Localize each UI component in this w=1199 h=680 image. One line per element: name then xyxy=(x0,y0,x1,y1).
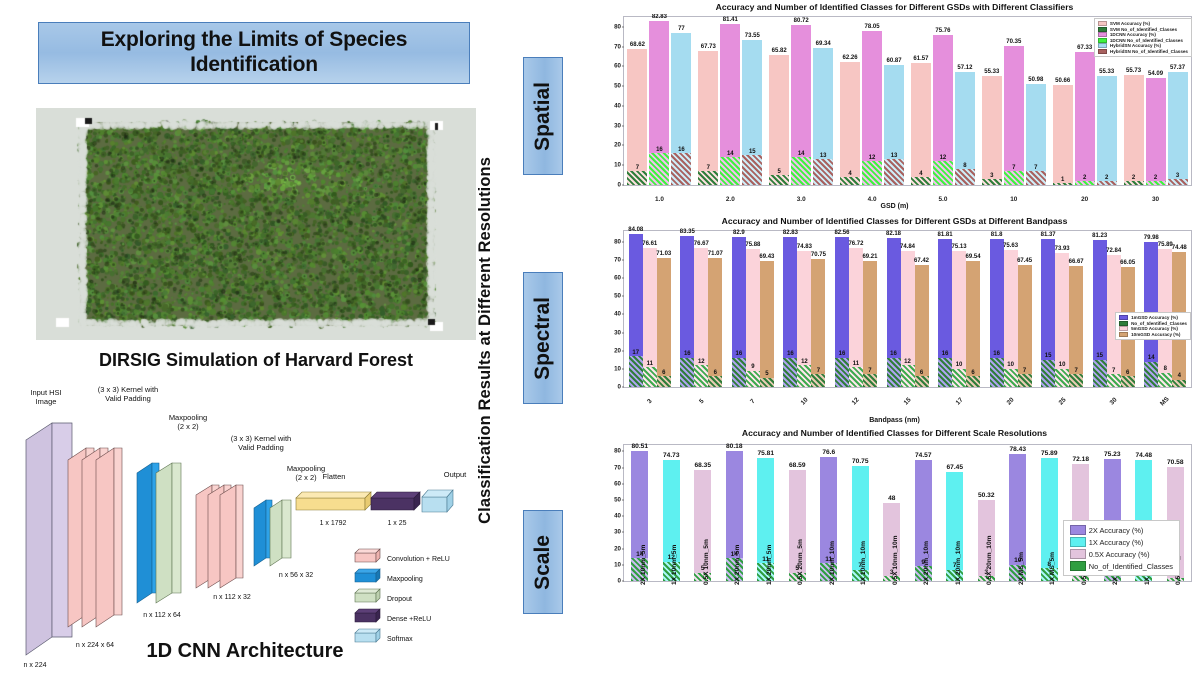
cnn-legend-label-dense: Dense +ReLU xyxy=(387,616,431,623)
cnn-dim-flatten: 1 x 1792 xyxy=(320,520,347,527)
class-count-overlay: 4 xyxy=(840,177,860,185)
class-count-label: 16 xyxy=(787,351,794,357)
legend-label: 5mGSD Accuracy (%) xyxy=(1131,326,1178,331)
class-count-label: 7 xyxy=(1074,368,1077,374)
x-tick-label: 3.0 xyxy=(797,196,806,203)
x-tick-label: 5.0 xyxy=(938,196,947,203)
class-count-overlay: 12 xyxy=(933,161,953,185)
bar-value-label: 81.8 xyxy=(991,232,1003,238)
bar-svm-accuracy-: 55.732 xyxy=(1124,75,1144,185)
class-count-label: 16 xyxy=(942,351,949,357)
chart-title-scale: Accuracy and Number of Identified Classe… xyxy=(593,428,1196,438)
class-count-overlay: 7 xyxy=(1004,171,1024,185)
class-count-label: 7 xyxy=(1112,368,1115,374)
class-count-label: 6 xyxy=(662,370,665,376)
class-count-overlay: 16 xyxy=(938,358,952,387)
cnn-label-kernel1-line2: Valid Padding xyxy=(105,394,151,403)
bar-group: 67.4571X 20nm_10m xyxy=(939,445,971,581)
class-count-label: 6 xyxy=(971,370,974,376)
bar-value-label: 80.18 xyxy=(726,443,743,450)
bar-1dcnn-accuracy-: 80.7214 xyxy=(791,25,811,185)
class-count-overlay: 14 xyxy=(720,157,740,185)
bar-group: 65.82580.721469.34133.0 xyxy=(766,17,837,185)
bar-value-label: 73.55 xyxy=(745,33,760,39)
y-tick-label: 30 xyxy=(614,529,621,536)
class-count-label: 7 xyxy=(868,368,871,374)
bar-value-label: 75.89 xyxy=(1158,242,1173,248)
class-count-label: 14 xyxy=(1148,355,1155,361)
x-tick-label: 2X 10nm_5m xyxy=(640,545,647,585)
x-tick-label: 3 xyxy=(646,398,653,405)
class-count-overlay: 8 xyxy=(955,169,975,185)
bar-value-label: 78.43 xyxy=(1009,446,1026,453)
x-tick-label: 0.5X 10nm_5m xyxy=(703,539,710,585)
legend-label: SVM Accuracy (%) xyxy=(1110,21,1150,26)
class-count-overlay: 11 xyxy=(849,367,863,387)
x-tick-label: 1.0 xyxy=(655,196,664,203)
x-tick-label: 25 xyxy=(1057,397,1067,407)
bar-1mgsd-accuracy-: 82.8316 xyxy=(783,237,797,387)
bar-10mgsd-accuracy-: 71.036 xyxy=(657,258,671,387)
page-title: Exploring the Limits of Species Identifi… xyxy=(39,28,469,78)
legend-row: HybridSN No_of_Identified_Classes xyxy=(1098,49,1188,54)
bar-value-label: 82.18 xyxy=(886,231,901,237)
bar-svm-accuracy-: 61.574 xyxy=(911,63,931,185)
legend-swatch xyxy=(1119,326,1128,331)
bar-value-label: 70.58 xyxy=(1167,459,1184,466)
bar-5mgsd-accuracy-: 74.8312 xyxy=(797,251,811,387)
legend-row: HybridSN Accuracy (%) xyxy=(1098,43,1188,48)
bar-value-label: 75.13 xyxy=(952,244,967,250)
bar-value-label: 82.83 xyxy=(652,14,667,20)
forest-caption: DIRSIG Simulation of Harvard Forest xyxy=(36,350,476,371)
class-count-label: 7 xyxy=(636,165,639,171)
legend-swatch xyxy=(1098,21,1107,26)
class-count-overlay: 16 xyxy=(649,153,669,185)
class-count-label: 12 xyxy=(801,359,808,365)
bar-hybridsn-accuracy-: 69.3413 xyxy=(813,48,833,185)
class-count-overlay: 16 xyxy=(990,358,1004,387)
x-tick-wrapper: 3 xyxy=(624,387,676,408)
class-count-label: 10 xyxy=(1059,362,1066,368)
legend-swatch xyxy=(1098,49,1107,54)
x-tick-wrapper: 17 xyxy=(933,387,985,408)
class-count-overlay: 7 xyxy=(811,374,825,387)
class-count-label: 7 xyxy=(1023,368,1026,374)
class-count-overlay: 10 xyxy=(1004,369,1018,387)
y-tick-label: 20 xyxy=(614,545,621,552)
bar-value-label: 67.33 xyxy=(1077,45,1092,51)
class-count-overlay: 16 xyxy=(680,358,694,387)
class-count-overlay: 4 xyxy=(911,177,931,185)
legend-label: HybridSN No_of_Identified_Classes xyxy=(1110,49,1188,54)
legend-row: 1DCNN Accuracy (%) xyxy=(1098,32,1188,37)
class-count-label: 7 xyxy=(1012,165,1015,171)
legend-swatch xyxy=(1098,43,1107,48)
legend-label: 2X Accuracy (%) xyxy=(1089,526,1144,535)
bar-5mgsd-accuracy-: 75.1310 xyxy=(952,251,966,387)
legend-label: 10mGSD Accuracy (%) xyxy=(1131,332,1180,337)
bar-hybridsn-accuracy-: 60.8713 xyxy=(884,65,904,185)
bar-value-label: 76.6 xyxy=(822,449,835,456)
class-count-overlay: 12 xyxy=(862,161,882,185)
class-count-overlay: 12 xyxy=(901,365,915,387)
x-tick-label: 10 xyxy=(799,397,809,407)
cnn-dim-pool2: n x 56 x 32 xyxy=(279,572,313,579)
bar-group: 68.3550.5X 10nm_5m xyxy=(687,445,719,581)
x-tick-label: 4.0 xyxy=(868,196,877,203)
class-count-label: 16 xyxy=(684,351,691,357)
bar-1mgsd-accuracy-: 83.3516 xyxy=(680,236,694,387)
y-tick-label: 40 xyxy=(614,513,621,520)
class-count-overlay: 6 xyxy=(966,376,980,387)
cnn-label-maxpool2-line1: Maxpooling xyxy=(287,464,325,473)
chart-panel-spatial: Accuracy and Number of Identified Classe… xyxy=(593,2,1196,212)
vertical-section-title-text: Classification Results at Different Reso… xyxy=(476,157,495,524)
bar-value-label: 76.67 xyxy=(694,241,709,247)
bar-group: 68.62782.831677161.0 xyxy=(624,17,695,185)
bar-10mgsd-accuracy-: 69.435 xyxy=(760,261,774,387)
y-tick-label: 70 xyxy=(614,464,621,471)
class-count-overlay: 7 xyxy=(1018,374,1032,387)
bar-1mgsd-accuracy-: 81.816 xyxy=(990,239,1004,387)
legend-swatch xyxy=(1070,525,1086,535)
bar-value-label: 66.05 xyxy=(1120,260,1135,266)
class-count-overlay: 14 xyxy=(1144,362,1158,387)
bar-value-label: 81.41 xyxy=(723,17,738,23)
x-tick-label: 0.5X 20nm_10m xyxy=(986,536,993,586)
bar-value-label: 62.26 xyxy=(843,55,858,61)
x-tick-label: 2X MS_5m xyxy=(1018,552,1025,585)
x-tick-label: 30 xyxy=(1109,397,1119,407)
legend-row: No_of_Identified_Classes xyxy=(1119,321,1187,326)
bar-5mgsd-accuracy-: 76.6111 xyxy=(643,248,657,387)
bar-value-label: 77 xyxy=(678,26,685,32)
bar-value-label: 79.98 xyxy=(1144,235,1159,241)
class-count-overlay: 11 xyxy=(643,367,657,387)
bar-group: 78.43102X MS_5m xyxy=(1002,445,1034,581)
cnn-legend-label-conv: Convolution + ReLU xyxy=(387,556,450,563)
bar-value-label: 80.72 xyxy=(794,18,809,24)
bar-10mgsd-accuracy-: 71.076 xyxy=(708,258,722,387)
bar-value-label: 69.34 xyxy=(816,41,831,47)
bar-value-label: 70.35 xyxy=(1006,39,1021,45)
legend-swatch xyxy=(1098,38,1107,43)
class-count-overlay: 15 xyxy=(742,155,762,185)
y-tick-label: 10 xyxy=(614,365,621,372)
x-tick-wrapper: MS xyxy=(1139,387,1191,408)
cnn-svg: .bt { font-family:"Liberation Sans", san… xyxy=(0,385,492,675)
chart-title-spatial: Accuracy and Number of Identified Classe… xyxy=(593,2,1196,12)
class-count-overlay: 4 xyxy=(1172,380,1186,387)
bar-hybridsn-accuracy-: 55.332 xyxy=(1097,76,1117,185)
bar-5mgsd-accuracy-: 74.8412 xyxy=(901,251,915,387)
class-count-label: 2 xyxy=(1132,175,1135,181)
y-tick-label: 20 xyxy=(614,347,621,354)
bar-hybridsn-accuracy-: 7716 xyxy=(671,33,691,185)
bar-10mgsd-accuracy-: 67.426 xyxy=(915,265,929,387)
legend-label: No_of_Identified_Classes xyxy=(1131,321,1187,326)
y-tick-label: 10 xyxy=(614,162,621,169)
plot-area-spectral: Values 0102030405060708084.081776.611171… xyxy=(623,230,1192,388)
class-count-label: 7 xyxy=(1034,165,1037,171)
class-count-label: 4 xyxy=(919,171,922,177)
left-panel: Exploring the Limits of Species Identifi… xyxy=(0,0,492,674)
class-count-label: 2 xyxy=(1154,175,1157,181)
y-tick-label: 20 xyxy=(614,142,621,149)
bar-1dcnn-accuracy-: 82.8316 xyxy=(649,21,669,185)
bar-value-label: 82.56 xyxy=(834,230,849,236)
x-tick-label: 1X 20nm_10m xyxy=(955,541,962,585)
bar-group: 76.6112X 10nm_10m xyxy=(813,445,845,581)
legend-label: 1mGSD Accuracy (%) xyxy=(1131,315,1178,320)
section-label-spatial-text: Spatial xyxy=(531,82,555,151)
class-count-label: 10 xyxy=(956,362,963,368)
cnn-legend-label-dropout: Dropout xyxy=(387,596,412,603)
section-label-scale: Scale xyxy=(523,510,563,614)
bar-1dcnn-accuracy-: 75.7612 xyxy=(933,35,953,185)
chart-legend-scale: 2X Accuracy (%)1X Accuracy (%)0.5X Accur… xyxy=(1063,520,1180,576)
bar-1mgsd-accuracy-: 81.3715 xyxy=(1041,239,1055,387)
bar-10mgsd-accuracy-: 69.217 xyxy=(863,261,877,387)
class-count-label: 11 xyxy=(647,361,653,367)
class-count-label: 7 xyxy=(817,368,820,374)
bar-group: 70.7571X 10nm_10m xyxy=(845,445,877,581)
chart-legend-spectral: 1mGSD Accuracy (%)No_of_Identified_Class… xyxy=(1115,312,1191,340)
bar-value-label: 75.81 xyxy=(757,450,774,457)
x-tick-wrapper: 10 xyxy=(779,387,831,408)
legend-label: 1DCNN Accuracy (%) xyxy=(1110,32,1156,37)
bar-group: 55.33370.35750.98710 xyxy=(978,17,1049,185)
y-tick-label: 40 xyxy=(614,102,621,109)
class-count-label: 10 xyxy=(1007,362,1014,368)
bar-value-label: 61.57 xyxy=(913,56,928,62)
bar-value-label: 71.03 xyxy=(656,251,671,257)
bar-group: 81.811675.131069.54617 xyxy=(933,231,985,387)
class-count-overlay: 6 xyxy=(1121,376,1135,387)
class-count-overlay: 7 xyxy=(1107,374,1121,387)
class-count-label: 6 xyxy=(714,370,717,376)
class-count-overlay: 5 xyxy=(769,175,789,185)
bar-svm-accuracy-: 62.264 xyxy=(840,62,860,185)
x-tick-wrapper: 30 xyxy=(1088,387,1140,408)
bar-svm-accuracy-: 65.825 xyxy=(769,55,789,185)
bar-value-label: 83.35 xyxy=(680,229,695,235)
y-tick-label: 50 xyxy=(614,293,621,300)
bar-value-label: 74.84 xyxy=(900,244,915,250)
legend-row: 0.5X Accuracy (%) xyxy=(1070,549,1173,559)
bar-group: 4830.5X 10nm_10m xyxy=(876,445,908,581)
bar-1mgsd-accuracy-: 81.2315 xyxy=(1093,240,1107,387)
legend-label: 1X Accuracy (%) xyxy=(1089,538,1144,547)
x-tick-label: 2X 10nm_10m xyxy=(829,541,836,585)
class-count-overlay: 16 xyxy=(671,153,691,185)
bar-group: 81.231572.84766.05630 xyxy=(1088,231,1140,387)
x-tick-label: 2X 20nm_10m xyxy=(923,541,930,585)
x-tick-wrapper: 20 xyxy=(985,387,1037,408)
bar-1dcnn-accuracy-: 78.0512 xyxy=(862,31,882,185)
forest-image-frame xyxy=(36,108,476,340)
y-tick-label: 40 xyxy=(614,311,621,318)
cnn-label-kernel1-line1: (3 x 3) Kernel with xyxy=(98,385,158,394)
x-tick-wrapper: 5 xyxy=(676,387,728,408)
y-tick-label: 80 xyxy=(614,238,621,245)
class-count-label: 8 xyxy=(963,163,966,169)
legend-row: 1mGSD Accuracy (%) xyxy=(1119,315,1187,320)
bar-hybridsn-accuracy-: 57.373 xyxy=(1168,72,1188,185)
bar-group: 62.26478.051260.87134.0 xyxy=(837,17,908,185)
bar-10mgsd-accuracy-: 67.457 xyxy=(1018,265,1032,387)
x-tick-label: 1X 20nm_5m xyxy=(766,545,773,585)
class-count-label: 11 xyxy=(853,361,859,367)
bar-value-label: 74.48 xyxy=(1135,452,1152,459)
legend-label: HybridSN Accuracy (%) xyxy=(1110,43,1161,48)
bar-value-label: 81.37 xyxy=(1041,232,1056,238)
class-count-label: 16 xyxy=(839,351,846,357)
class-count-overlay: 14 xyxy=(791,157,811,185)
bar-value-label: 67.45 xyxy=(1017,258,1032,264)
bar-value-label: 69.21 xyxy=(862,254,877,260)
cnn-label-flatten: Flatten xyxy=(323,472,346,481)
bar-value-label: 55.33 xyxy=(1099,69,1114,75)
class-count-overlay: 5 xyxy=(760,378,774,387)
class-count-label: 5 xyxy=(778,169,781,175)
bar-groups: 84.081776.611171.036383.351676.671271.07… xyxy=(624,231,1191,387)
class-count-label: 5 xyxy=(765,371,768,377)
x-tick-label: 2.0 xyxy=(726,196,735,203)
class-count-label: 16 xyxy=(678,147,685,153)
bar-5mgsd-accuracy-: 76.7211 xyxy=(849,248,863,387)
x-tick-label: MS xyxy=(1159,396,1171,408)
cnn-dim-conv2: n x 112 x 32 xyxy=(213,594,251,601)
class-count-overlay: 7 xyxy=(698,171,718,185)
bar-value-label: 66.67 xyxy=(1069,259,1084,265)
legend-swatch xyxy=(1098,32,1107,37)
bar-1dcnn-accuracy-: 81.4114 xyxy=(720,24,740,185)
class-count-overlay: 10 xyxy=(1055,369,1069,387)
bar-value-label: 81.23 xyxy=(1092,233,1107,239)
class-count-label: 14 xyxy=(798,151,805,157)
class-count-label: 9 xyxy=(751,364,754,370)
x-tick-label: 10 xyxy=(1010,196,1017,203)
bar-value-label: 68.62 xyxy=(630,42,645,48)
legend-swatch xyxy=(1070,537,1086,547)
class-count-label: 8 xyxy=(1164,366,1167,372)
bar-value-label: 82.83 xyxy=(783,230,798,236)
legend-row: SVM No_of_Identified_Classes xyxy=(1098,27,1188,32)
bar-value-label: 82.9 xyxy=(733,230,745,236)
legend-row: SVM Accuracy (%) xyxy=(1098,21,1188,26)
bar-value-label: 71.07 xyxy=(708,251,723,257)
bar-value-label: 69.43 xyxy=(759,254,774,260)
bar-value-label: 74.57 xyxy=(915,452,932,459)
y-tick-label: 70 xyxy=(614,257,621,264)
class-count-overlay: 7 xyxy=(863,374,877,387)
y-tick-label: 30 xyxy=(614,122,621,129)
class-count-label: 15 xyxy=(1096,353,1103,359)
x-tick-label: 20 xyxy=(1006,397,1016,407)
chart-panel-scale: Accuracy and Number of Identified Classe… xyxy=(593,428,1196,672)
bar-value-label: 67.73 xyxy=(701,44,716,50)
bar-value-label: 80.51 xyxy=(631,443,648,450)
class-count-label: 6 xyxy=(920,370,923,376)
bar-1mgsd-accuracy-: 82.1816 xyxy=(887,238,901,387)
legend-row: No_of_Identified_Classes xyxy=(1070,561,1173,571)
cnn-legend-label-maxpool: Maxpooling xyxy=(387,576,423,583)
bar-value-label: 54.09 xyxy=(1148,71,1163,77)
bar-group: 68.5950.5X 20nm_5m xyxy=(782,445,814,581)
bar-10mgsd-accuracy-: 69.546 xyxy=(966,261,980,387)
x-tick-label: 17 xyxy=(954,397,964,407)
x-tick-label: 7 xyxy=(749,398,756,405)
bar-value-label: 67.42 xyxy=(914,258,929,264)
bar-1dcnn-accuracy-: 54.092 xyxy=(1146,78,1166,185)
class-count-label: 12 xyxy=(904,359,911,365)
class-count-overlay: 13 xyxy=(884,159,904,185)
bar-group: 81.371573.931066.67725 xyxy=(1036,231,1088,387)
x-tick-label: 0.5X 20nm_5m xyxy=(797,539,804,585)
bar-value-label: 67.45 xyxy=(946,464,963,471)
bar-value-label: 74.48 xyxy=(1172,245,1187,251)
class-count-label: 15 xyxy=(749,149,756,155)
bar-value-label: 70.75 xyxy=(852,458,869,465)
class-count-overlay: 7 xyxy=(1069,374,1083,387)
class-count-overlay: 15 xyxy=(1093,360,1107,387)
bar-1mgsd-accuracy-: 82.5616 xyxy=(835,237,849,387)
y-tick-label: 30 xyxy=(614,329,621,336)
bar-group: 80.51142X 10nm_5m xyxy=(624,445,656,581)
bar-1dcnn-accuracy-: 70.357 xyxy=(1004,46,1024,185)
class-count-label: 12 xyxy=(869,155,876,161)
class-count-overlay: 6 xyxy=(915,376,929,387)
y-tick-label: 0 xyxy=(618,578,621,585)
bar-value-label: 75.76 xyxy=(935,28,950,34)
y-tick-label: 60 xyxy=(614,63,621,70)
bar-1mgsd-accuracy-: 84.0817 xyxy=(629,234,643,387)
bar-group: 82.181674.841267.42615 xyxy=(882,231,934,387)
y-tick-label: 80 xyxy=(614,448,621,455)
legend-row: 10mGSD Accuracy (%) xyxy=(1119,332,1187,337)
chart-legend-spatial: SVM Accuracy (%)SVM No_of_Identified_Cla… xyxy=(1094,18,1192,57)
section-label-spatial: Spatial xyxy=(523,57,563,175)
cnn-label-kernel2-line2: Valid Padding xyxy=(238,443,284,452)
cnn-label-input-line1: Input HSI xyxy=(30,388,61,397)
bar-value-label: 72.18 xyxy=(1072,456,1089,463)
x-tick-label: 12 xyxy=(851,397,861,407)
bar-group: 75.8981X MS_5m xyxy=(1034,445,1066,581)
bar-10mgsd-accuracy-: 66.677 xyxy=(1069,266,1083,387)
chart-panel-spectral: Accuracy and Number of Identified Classe… xyxy=(593,216,1196,426)
class-count-overlay: 7 xyxy=(1026,171,1046,185)
x-tick-label: 1X 10nm_10m xyxy=(860,541,867,585)
y-tick-label: 0 xyxy=(618,182,621,189)
bar-value-label: 84.08 xyxy=(628,227,643,233)
bar-value-label: 78.05 xyxy=(865,24,880,30)
bar-group: 82.831674.831270.75710 xyxy=(779,231,831,387)
section-label-spectral: Spectral xyxy=(523,272,563,404)
legend-swatch xyxy=(1098,27,1107,32)
class-count-label: 12 xyxy=(698,359,705,365)
bar-5mgsd-accuracy-: 75.6310 xyxy=(1004,250,1018,387)
class-count-label: 2 xyxy=(1083,175,1086,181)
class-count-overlay: 16 xyxy=(732,358,746,387)
x-tick-wrapper: 15 xyxy=(882,387,934,408)
legend-label: 0.5X Accuracy (%) xyxy=(1089,550,1150,559)
x-tick-label: 1X MS_5m xyxy=(1049,552,1056,585)
bar-value-label: 81.81 xyxy=(938,232,953,238)
class-count-label: 4 xyxy=(1178,373,1181,379)
bar-value-label: 55.33 xyxy=(984,69,999,75)
